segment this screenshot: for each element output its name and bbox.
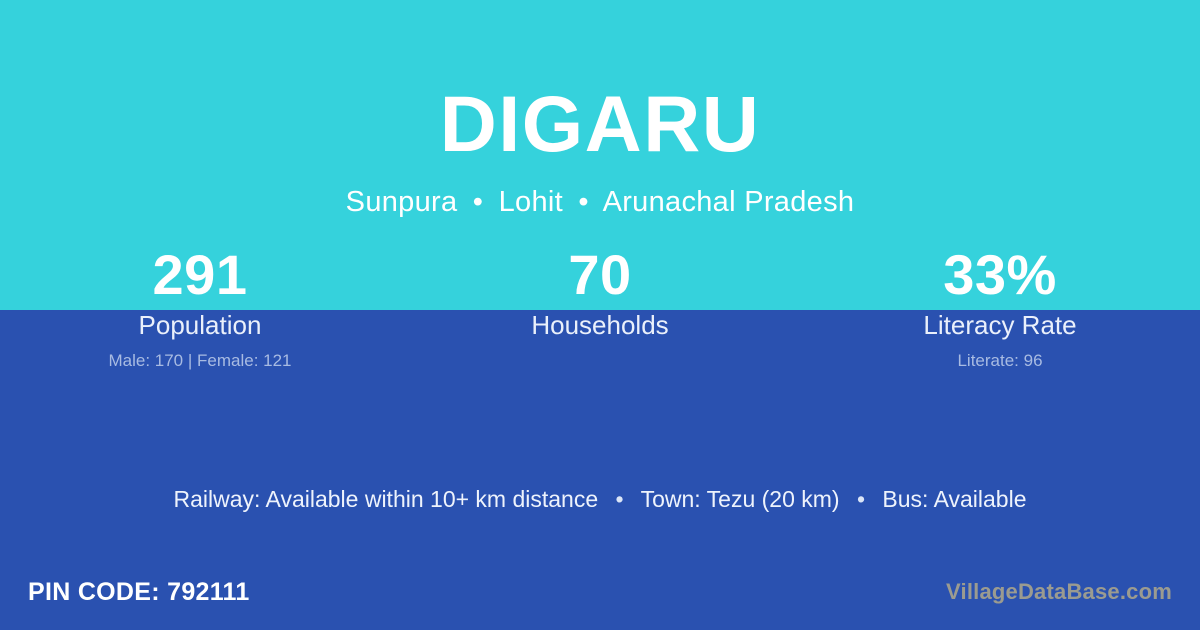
stats-row: 291 Population Male: 170 | Female: 121 7…: [0, 244, 1200, 371]
page-title: DIGARU: [0, 84, 1200, 163]
breadcrumb-district: Lohit: [499, 186, 563, 218]
transport-railway: Railway: Available within 10+ km distanc…: [173, 486, 598, 512]
stat-households: 70 Households: [400, 244, 800, 371]
stat-label: Population: [0, 310, 400, 340]
breadcrumb: Sunpura • Lohit • Arunachal Pradesh: [0, 188, 1200, 217]
card-footer: PIN CODE: 792111 VillageDataBase.com: [0, 572, 1200, 612]
pin-code: PIN CODE: 792111: [28, 577, 250, 607]
transport-bus: Bus: Available: [882, 486, 1026, 512]
stat-sublabel: Literate: 96: [800, 351, 1200, 371]
breadcrumb-block: Sunpura: [346, 186, 458, 218]
stat-label: Literacy Rate: [800, 310, 1200, 340]
breadcrumb-state: Arunachal Pradesh: [603, 186, 855, 218]
card-header: DIGARU Sunpura • Lohit • Arunachal Prade…: [0, 0, 1200, 217]
site-brand: VillageDataBase.com: [946, 578, 1172, 606]
transport-info-line: Railway: Available within 10+ km distanc…: [0, 485, 1200, 513]
transport-separator-icon: •: [846, 485, 876, 513]
stat-value: 33%: [800, 244, 1200, 306]
stat-label: Households: [400, 310, 800, 340]
transport-separator-icon: •: [605, 485, 635, 513]
stat-sublabel: Male: 170 | Female: 121: [0, 351, 400, 371]
village-info-card: DIGARU Sunpura • Lohit • Arunachal Prade…: [0, 0, 1200, 630]
stat-literacy-rate: 33% Literacy Rate Literate: 96: [800, 244, 1200, 371]
stat-value: 291: [0, 244, 400, 306]
transport-town: Town: Tezu (20 km): [641, 486, 840, 512]
breadcrumb-separator-icon: •: [571, 188, 595, 217]
breadcrumb-separator-icon: •: [466, 188, 490, 217]
stat-population: 291 Population Male: 170 | Female: 121: [0, 244, 400, 371]
stat-value: 70: [400, 244, 800, 306]
